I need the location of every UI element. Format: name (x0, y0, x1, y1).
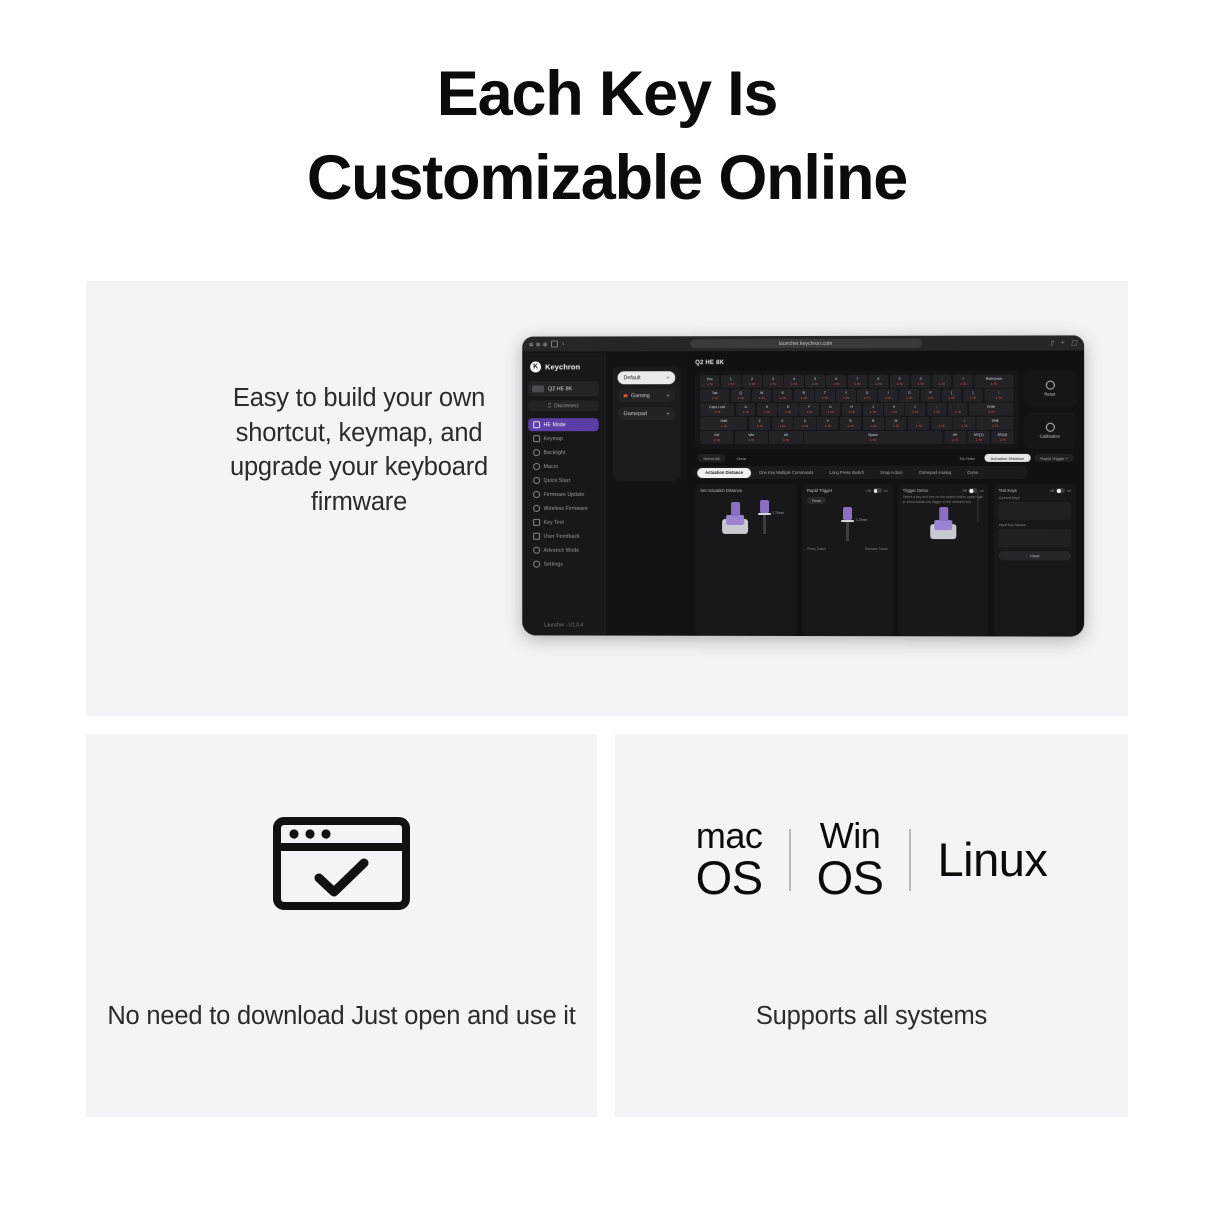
panel-header: Rapid Trigger Off on (807, 488, 888, 493)
key[interactable]: Shift1.70 (700, 417, 747, 430)
key[interactable]: D1.70 (778, 403, 798, 416)
key-label: - (941, 377, 942, 381)
key[interactable]: S1.70 (757, 403, 777, 416)
panel-title: Test Keys (999, 488, 1017, 493)
keyboard-row: Ctrl1.70 Win1.70 Alt1.70 Space1.70 Alt1.… (700, 431, 1013, 444)
key[interactable]: Z1.70 (749, 417, 770, 430)
filter-rapid-trigger[interactable]: Rapid Trigger + (1034, 454, 1074, 462)
keyboard-visual[interactable]: Esc1.70 11.70 21.70 31.70 41.70 51.70 61… (695, 371, 1018, 450)
key-value: 1.70 (934, 410, 940, 414)
page-title: Each Key Is Customizable Online (0, 52, 1214, 220)
os-macos-top: mac (696, 818, 763, 854)
clear-selection-button[interactable]: Clear (731, 454, 753, 462)
sidebar-item-settings[interactable]: Settings (528, 558, 598, 571)
panel-trigger-demo: Trigger Demo Off on Select a key and tur… (898, 484, 989, 636)
rapid-trigger-reset-button[interactable]: Reset (807, 497, 826, 504)
key[interactable]: A1.70 (736, 403, 756, 416)
key[interactable]: \1.70 (984, 389, 1013, 402)
key[interactable]: 51.70 (805, 375, 824, 388)
key-label: 4 (793, 377, 795, 381)
key-label: C (804, 419, 806, 423)
key-value: 1.70 (996, 395, 1002, 399)
key-label: Y (845, 391, 847, 395)
key-label: Space (868, 433, 878, 437)
key-label: I (888, 391, 889, 395)
key-value: 1.70 (749, 382, 755, 386)
toggle-on-label: on (980, 489, 984, 493)
key-label: Shift (992, 419, 999, 423)
sidebar-item-label: Backlight (544, 450, 566, 456)
key-label: [ (951, 391, 952, 395)
key[interactable]: B1.70 (840, 417, 861, 430)
key-label: / (964, 419, 965, 423)
key-value: 1.70 (988, 409, 994, 413)
key[interactable]: 91.70 (890, 375, 910, 388)
key[interactable]: MO(1)1.70 (968, 431, 990, 444)
key-label: 7 (856, 377, 858, 381)
profiles-column: Default ▾ Gaming ▾ Gamepad ▾ (606, 352, 688, 636)
profile-item-gaming[interactable]: Gaming ▾ (618, 389, 676, 402)
key-label: S (766, 405, 768, 409)
filter-actuation-distance[interactable]: Actuation Distance (985, 454, 1031, 462)
key-label: Shift (720, 419, 727, 423)
key[interactable]: 21.70 (742, 375, 761, 388)
key[interactable]: I1.70 (878, 389, 898, 402)
sidebar-item-label: Macro (544, 464, 559, 470)
app-body: K Keychron Q2 HE 8K ⎕ Disconnect (522, 351, 1084, 636)
feature-card-launcher: Easy to build your own shortcut, keymap,… (86, 281, 1128, 716)
close-icon[interactable] (529, 342, 533, 346)
chevron-down-icon[interactable]: ▾ (667, 375, 670, 381)
key-value: 1.70 (891, 410, 897, 414)
rapid-trigger-toggle[interactable]: Off on (866, 488, 887, 493)
key[interactable]: ,1.70 (908, 417, 929, 430)
key[interactable]: Win1.70 (735, 431, 768, 444)
sidebar-nav: HE Mode Keymap Backlight Macro (528, 418, 598, 571)
key-label: Z (759, 419, 761, 423)
key[interactable]: 11.70 (721, 375, 740, 388)
key-value: 1.70 (783, 438, 789, 442)
launcher-version: Launcher - V1.0.4 (528, 622, 598, 631)
toggle-off-label: Off (962, 489, 966, 493)
key-label: Tab (712, 391, 717, 395)
no-download-caption: No need to download Just open and use it (86, 999, 597, 1034)
key[interactable]: ]1.70 (963, 389, 983, 402)
key-label: , (918, 419, 919, 423)
rapid-trigger-slider[interactable]: 0.20mm (841, 507, 854, 541)
release-travel-label: Release Travel (865, 548, 888, 553)
key-label: Alt (784, 433, 788, 437)
current-keys-field[interactable] (999, 503, 1071, 521)
key[interactable]: Ctrl1.70 (700, 431, 733, 444)
key-value: 1.70 (806, 410, 812, 414)
key-value: 1.70 (897, 381, 903, 385)
maximize-icon[interactable] (543, 342, 547, 346)
toggle-on-label: on (1067, 489, 1071, 493)
share-icon[interactable]: ⇧ (1049, 339, 1055, 347)
app-main: Q2 HE 8K Esc1.70 11.70 21.70 31.70 41.70… (687, 351, 1084, 636)
key-value: 1.70 (955, 410, 961, 414)
key-label: 0 (920, 377, 922, 381)
key-label: ; (936, 405, 937, 409)
key[interactable]: P1.70 (921, 389, 941, 402)
chevron-left-icon[interactable]: ‹ (562, 341, 564, 348)
profile-label: Gaming (631, 393, 650, 399)
chevron-down-icon[interactable]: ▾ (667, 393, 670, 399)
keychron-logo-icon: K (530, 361, 541, 372)
key[interactable]: E1.70 (773, 389, 792, 402)
key-label: U (866, 391, 868, 395)
panel-title: Trigger Demo (903, 488, 929, 493)
keychron-launcher-window: ‹ launcher.keychron.com ⇧ + ☐ K Keychron (522, 335, 1084, 636)
os-windows-top: Win (817, 818, 884, 854)
key[interactable]: .1.70 (931, 417, 952, 430)
key-value: 1.70 (870, 410, 876, 414)
key[interactable]: ;1.70 (927, 403, 947, 416)
tab-long-press-switch[interactable]: Long Press Switch (821, 468, 872, 478)
key[interactable]: Enter1.70 (969, 403, 1013, 416)
tab-one-key-multiple-commands[interactable]: One Key Multiple Commands (751, 468, 821, 478)
rapid-trigger-value: 0.20mm (856, 518, 868, 522)
key-value: 1.70 (952, 438, 958, 442)
sidebar-item-quick-start[interactable]: Quick Start (528, 474, 598, 487)
app-sidebar: K Keychron Q2 HE 8K ⎕ Disconnect (522, 352, 605, 635)
key-value: 1.70 (885, 395, 891, 399)
key-label: 9 (899, 377, 901, 381)
toggle-switch[interactable] (969, 488, 978, 493)
os-windows: Win OS (817, 818, 884, 901)
tab-gamepad-analog[interactable]: Gamepad Analog (911, 468, 960, 478)
key[interactable]: F1.70 (799, 403, 819, 416)
key-value: 1.70 (960, 381, 966, 385)
selection-toolbar: Select All Clear No Data Actuation Dista… (695, 449, 1076, 466)
input-key-values-label: Input Key Values (999, 524, 1071, 528)
divider (909, 829, 911, 891)
key-label: 2 (751, 377, 753, 381)
key[interactable]: L1.70 (906, 403, 926, 416)
key-value: 1.70 (992, 424, 998, 428)
key[interactable]: R1.70 (794, 389, 813, 402)
keyboard-row: Shift1.70 Z1.70 X1.70 C1.70 V1.70 B1.70 … (700, 417, 1013, 430)
actuation-slider[interactable]: 1.70mm (758, 500, 771, 534)
key-value: 1.70 (770, 382, 776, 386)
key-label: P (929, 391, 931, 395)
key-label: E (782, 391, 784, 395)
page-root: Each Key Is Customizable Online Easy to … (0, 0, 1214, 1214)
gear-icon (533, 561, 539, 567)
toggle-switch[interactable] (1056, 488, 1065, 493)
key-label: 5 (814, 377, 816, 381)
trigger-demo-toggle[interactable]: Off on (962, 488, 983, 493)
panel-set-actuation-distance: Set Actuation Distance 1.70mm (695, 484, 797, 636)
key-value: 1.70 (843, 396, 849, 400)
key-label: MO(1) (974, 433, 984, 437)
select-all-button[interactable]: Select All (697, 455, 725, 463)
key[interactable]: 01.70 (911, 375, 931, 388)
sidebar-item-key-test[interactable]: Key Test (528, 516, 598, 529)
key[interactable]: X1.70 (772, 417, 793, 430)
key-value: 1.70 (743, 410, 749, 414)
key-value: 1.70 (833, 381, 839, 385)
sidebar-item-he-mode[interactable]: HE Mode (528, 418, 598, 431)
key-label: T (824, 391, 826, 395)
key-value: 1.70 (961, 424, 967, 428)
input-key-values-field[interactable] (999, 530, 1071, 548)
key[interactable]: Alt1.70 (944, 431, 966, 444)
key[interactable]: 31.70 (763, 375, 782, 388)
key-label: R (803, 391, 805, 395)
user-feedback-icon (533, 533, 539, 539)
sidebar-item-label: Advance Mode (544, 547, 580, 553)
key-label: Q (739, 391, 742, 395)
key-label: A (745, 405, 747, 409)
sidebar-item-backlight[interactable]: Backlight (528, 446, 598, 459)
page-title-line1: Each Key Is (437, 59, 778, 129)
tab-snap-action[interactable]: Snap Action (872, 468, 910, 478)
key[interactable]: [1.70 (942, 389, 962, 402)
key[interactable]: J1.70 (863, 403, 883, 416)
reset-button[interactable]: Reset (1024, 371, 1076, 408)
tab-actuation-distance[interactable]: Actuation Distance (697, 468, 751, 478)
key-value: 1.70 (785, 410, 791, 414)
current-keys-label: Current Keys (999, 496, 1071, 500)
key-value: 1.70 (802, 424, 808, 428)
key-label: 8 (877, 377, 879, 381)
key-value: 1.70 (893, 424, 899, 428)
os-windows-bottom: OS (817, 854, 884, 901)
panel-title: Set Actuation Distance (700, 488, 742, 493)
key[interactable]: Alt1.70 (769, 431, 802, 444)
toggle-off-label: Off (1050, 489, 1055, 493)
key[interactable]: Shift1.70 (977, 417, 1014, 430)
key-label: Alt (953, 433, 957, 437)
profiles-list: Default ▾ Gaming ▾ Gamepad ▾ (613, 366, 681, 481)
key-label: Win (748, 433, 754, 437)
key-label: 3 (772, 377, 774, 381)
panel-header: Set Actuation Distance (700, 488, 792, 493)
trigger-demo-description: Select a key and turn on the switch butt… (903, 495, 984, 504)
disconnect-button[interactable]: ⎕ Disconnect (528, 400, 598, 411)
key-value: 1.70 (870, 424, 876, 428)
key-value: 1.70 (738, 396, 744, 400)
clear-button[interactable]: Clear (999, 552, 1071, 561)
key-value: 1.70 (825, 424, 831, 428)
key-value: 1.70 (939, 381, 945, 385)
key[interactable]: O1.70 (900, 389, 920, 402)
os-macos: mac OS (696, 818, 763, 901)
key-value: 1.70 (918, 381, 924, 385)
key[interactable]: U1.70 (857, 389, 877, 402)
toggle-on-label: on (884, 489, 888, 493)
quick-start-icon (533, 477, 539, 483)
key[interactable]: '1.70 (948, 403, 968, 416)
panel-rapid-trigger: Rapid Trigger Off on Reset (802, 484, 893, 636)
key[interactable]: Esc1.70 (700, 375, 719, 388)
keyboard-row: Esc1.70 11.70 21.70 31.70 41.70 51.70 61… (700, 375, 1013, 388)
key-label: MO(4) (998, 433, 1008, 437)
panel-test-keys: Test Keys Off on Current Keys Input Key … (994, 484, 1076, 636)
key-value: 1.70 (938, 424, 944, 428)
minimize-icon[interactable] (536, 342, 540, 346)
actuation-visual: 1.70mm (700, 500, 792, 534)
key-value: 1.70 (759, 396, 765, 400)
tabs-icon[interactable] (551, 341, 558, 348)
key[interactable]: Y1.70 (836, 389, 856, 402)
key-value: 1.70 (822, 396, 828, 400)
key-space[interactable]: Space1.70 (804, 431, 942, 444)
key[interactable]: =1.70 (953, 375, 973, 388)
key-value: 1.70 (812, 381, 818, 385)
key[interactable]: 71.70 (848, 375, 868, 388)
key-test-icon (533, 519, 539, 525)
feature-tabs: Actuation Distance One Key Multiple Comm… (695, 466, 1028, 479)
profile-label: Default (624, 375, 641, 381)
key-label: B (849, 419, 851, 423)
feature-card-launcher-copy: Easy to build your own shortcut, keymap,… (194, 381, 524, 519)
key-label: O (908, 391, 911, 395)
sidebar-item-keymap[interactable]: Keymap (528, 432, 598, 445)
key-label: W (760, 391, 763, 395)
copy-icon[interactable]: ☐ (1071, 339, 1077, 347)
sidebar-item-macro[interactable]: Macro (528, 460, 598, 473)
os-linux-label: Linux (937, 836, 1047, 883)
panel-header: Trigger Demo Off on (903, 488, 984, 493)
device-thumbnail-icon (532, 385, 544, 392)
divider (789, 829, 791, 891)
page-title-line2: Customizable Online (0, 136, 1214, 220)
brand: K Keychron (528, 361, 598, 372)
right-action-column: Reset Calibration (1024, 371, 1076, 450)
key-label: V (827, 419, 829, 423)
key-value: 1.70 (791, 382, 797, 386)
no-data-label: No Data (954, 454, 981, 462)
os-linux: Linux (937, 836, 1047, 883)
key[interactable]: G1.70 (821, 403, 841, 416)
status-dot-icon (624, 394, 627, 397)
sidebar-item-advance-mode[interactable]: Advance Mode (528, 544, 598, 557)
key[interactable]: Caps Lock1.70 (700, 403, 734, 416)
key[interactable]: Tab1.70 (700, 389, 729, 402)
trigger-demo-visual (903, 507, 984, 539)
key-label: Caps Lock (709, 405, 725, 409)
profile-item-gamepad[interactable]: Gamepad ▾ (618, 407, 676, 420)
sidebar-item-label: User Feedback (544, 533, 580, 539)
press-travel-label: Press Travel (807, 547, 826, 552)
key[interactable]: N1.70 (863, 417, 884, 430)
key[interactable]: H1.70 (842, 403, 862, 416)
keymap-icon (533, 435, 539, 441)
panel-header: Test Keys Off on (999, 488, 1071, 493)
key-value: 1.70 (949, 395, 955, 399)
device-chip[interactable]: Q2 HE 8K (528, 381, 598, 396)
key-label: = (962, 377, 964, 381)
key-label: F (808, 405, 810, 409)
key-value: 1.70 (707, 382, 713, 386)
key[interactable]: 81.70 (869, 375, 889, 388)
key-label: N (872, 419, 874, 423)
key-value: 1.70 (780, 396, 786, 400)
settings-panels: Set Actuation Distance 1.70mm (695, 484, 1076, 636)
key[interactable]: K1.70 (884, 403, 904, 416)
key-value: 1.70 (854, 381, 860, 385)
sidebar-item-label: Wireless Firmware (544, 505, 588, 511)
key-value: 1.70 (976, 438, 982, 442)
sidebar-item-user-feedback[interactable]: User Feedback (528, 530, 598, 543)
key-value: 1.70 (927, 395, 933, 399)
sidebar-item-label: Keymap (544, 436, 563, 442)
key-label: H (850, 405, 852, 409)
test-keys-toggle[interactable]: Off on (1050, 488, 1071, 493)
calibration-button[interactable]: Calibration (1024, 412, 1076, 449)
key-value: 1.70 (714, 438, 720, 442)
key[interactable]: MO(4)1.70 (991, 431, 1013, 444)
plus-icon[interactable]: + (1061, 339, 1065, 346)
keyboard-row: Caps Lock1.70 A1.70 S1.70 D1.70 F1.70 G1… (700, 403, 1013, 416)
key-value: 1.70 (916, 424, 922, 428)
rapid-trigger-visual: 0.20mm (807, 507, 888, 541)
key-label: ' (958, 405, 959, 409)
no-download-icon-wrap (86, 816, 597, 911)
browser-actions: ⇧ + ☐ (1049, 339, 1077, 347)
key[interactable]: C1.70 (794, 417, 815, 430)
key-label: ] (972, 391, 973, 395)
profile-item-default[interactable]: Default ▾ (618, 371, 676, 384)
address-bar[interactable]: launcher.keychron.com (690, 339, 922, 348)
toggle-switch[interactable] (873, 488, 882, 493)
sidebar-item-firmware-update[interactable]: Firmware Update (528, 488, 598, 501)
key[interactable]: M1.70 (885, 417, 906, 430)
key[interactable]: Q1.70 (731, 389, 750, 402)
device-title: Q2 HE 8K (695, 359, 1076, 366)
window-controls[interactable] (529, 342, 547, 346)
key[interactable]: V1.70 (817, 417, 838, 430)
sidebar-item-wireless-firmware[interactable]: Wireless Firmware (528, 502, 598, 515)
key-value: 1.70 (764, 410, 770, 414)
key-value: 1.70 (801, 396, 807, 400)
tab-curve[interactable]: Curve (959, 468, 986, 478)
key-value: 1.70 (748, 438, 754, 442)
chevron-down-icon[interactable]: ▾ (667, 411, 670, 417)
key[interactable]: 41.70 (784, 375, 803, 388)
key[interactable]: W1.70 (752, 389, 771, 402)
key-value: 1.70 (779, 424, 785, 428)
key-label: Backspace (986, 377, 1003, 381)
he-mode-icon (533, 422, 539, 428)
sidebar-item-label: Key Test (544, 519, 564, 525)
advance-mode-icon (533, 547, 539, 553)
feature-card-no-download: No need to download Just open and use it (86, 734, 597, 1117)
switch-3d-icon (930, 507, 956, 539)
sidebar-item-label: Settings (544, 561, 563, 567)
feature-card-os-support: mac OS Win OS Linux Supports all systems (615, 734, 1128, 1117)
key[interactable]: T1.70 (815, 389, 834, 402)
key-value: 1.70 (875, 381, 881, 385)
key-value: 1.70 (714, 410, 720, 414)
key-value: 1.70 (912, 410, 918, 414)
key-label: Esc (707, 377, 713, 381)
key[interactable]: 61.70 (826, 375, 846, 388)
key[interactable]: Backspace1.70 (974, 375, 1013, 388)
key[interactable]: -1.70 (932, 375, 952, 388)
plug-icon: ⎕ (548, 403, 551, 409)
panel-title: Rapid Trigger (807, 488, 832, 493)
os-macos-bottom: OS (696, 854, 763, 901)
key-label: M (895, 419, 898, 423)
key[interactable]: /1.70 (954, 417, 975, 430)
key-value: 1.70 (849, 410, 855, 414)
backlight-icon (533, 449, 539, 455)
key-label: G (829, 405, 832, 409)
